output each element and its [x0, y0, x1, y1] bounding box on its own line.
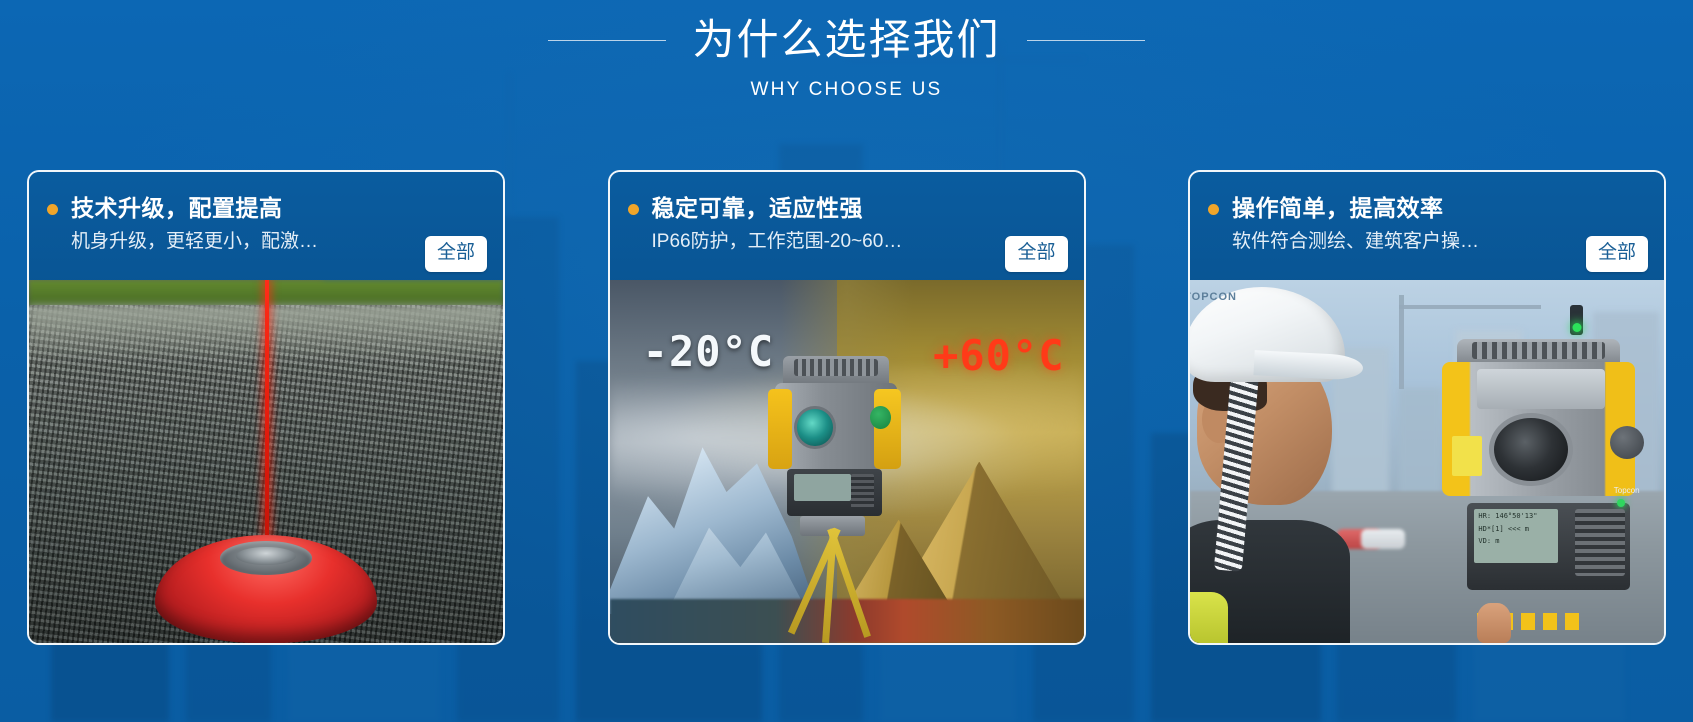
total-station: Topcon HR: 146°50'13" HD*[1] <<< m VD: m: [1413, 309, 1659, 643]
card-title: 技术升级，配置提高: [71, 194, 485, 224]
station-screen: [794, 474, 851, 501]
card-header-texts: 技术升级，配置提高 机身升级，更轻更小，配激…: [71, 194, 485, 255]
station-vent: [794, 359, 878, 376]
station-screen-line-2: HD*[1] <<< m: [1474, 522, 1558, 535]
marker-cap-inner: [236, 547, 296, 565]
title-rule-right: [1027, 40, 1145, 41]
title-row: 为什么选择我们: [548, 14, 1144, 67]
feature-card[interactable]: 操作简单，提高效率 软件符合测绘、建筑客户操… 全部: [1188, 170, 1666, 645]
person-finger: [1477, 603, 1512, 643]
card-header: 操作简单，提高效率 软件符合测绘、建筑客户操… 全部: [1190, 172, 1664, 280]
bullet-dot-icon: [47, 204, 58, 215]
station-lens: [794, 406, 836, 449]
view-all-button[interactable]: 全部: [1586, 236, 1648, 272]
feature-card[interactable]: 技术升级，配置提高 机身升级，更轻更小，配激… 全部: [27, 170, 505, 645]
cold-temperature-label: -20°C: [643, 327, 774, 376]
survey-marker: [155, 535, 377, 643]
station-badge: [870, 406, 891, 429]
station-warning-label: [1452, 436, 1482, 476]
station-focus-knob: [1610, 426, 1645, 459]
view-all-button[interactable]: 全部: [425, 236, 487, 272]
card-header: 技术升级，配置提高 机身升级，更轻更小，配激… 全部: [29, 172, 503, 280]
card-header-texts: 操作简单，提高效率 软件符合测绘、建筑客户操…: [1232, 194, 1646, 255]
station-screen-line-1: HR: 146°50'13": [1474, 509, 1558, 522]
card-header-row: 操作简单，提高效率 软件符合测绘、建筑客户操…: [1208, 194, 1646, 255]
card-image: TOPCON Topcon HR: 146°50'13" HD*[1] <<< …: [1190, 280, 1664, 643]
feature-card[interactable]: 稳定可靠，适应性强 IP66防护，工作范围-20~60… 全部: [608, 170, 1086, 645]
view-all-button[interactable]: 全部: [1005, 236, 1067, 272]
card-image: [29, 280, 503, 643]
station-screen-line-3: VD: m: [1474, 534, 1558, 547]
hot-temperature-label: +60°C: [933, 331, 1064, 380]
station-yellow-right: [874, 389, 901, 469]
card-image: -20°C +60°C: [610, 280, 1084, 643]
card-description: 机身升级，更轻更小，配激…: [71, 229, 401, 255]
station-screen: HR: 146°50'13" HD*[1] <<< m VD: m: [1474, 509, 1558, 562]
card-description: 软件符合测绘、建筑客户操…: [1232, 229, 1562, 255]
card-header-row: 技术升级，配置提高 机身升级，更轻更小，配激…: [47, 194, 485, 255]
station-brand-label: Topcon: [1614, 486, 1640, 495]
card-header-texts: 稳定可靠，适应性强 IP66防护，工作范围-20~60…: [652, 194, 1066, 255]
bullet-dot-icon: [1208, 204, 1219, 215]
safety-vest: [1190, 592, 1228, 643]
surveyor-person: TOPCON: [1190, 280, 1389, 643]
bullet-dot-icon: [628, 204, 639, 215]
station-lens: [1489, 413, 1573, 486]
section-header: 为什么选择我们 WHY CHOOSE US: [0, 0, 1693, 150]
station-keypad: [851, 474, 874, 507]
station-vent: [1472, 342, 1605, 359]
station-yellow-left: [768, 389, 793, 469]
helmet-brand-label: TOPCON: [1190, 291, 1237, 303]
card-description: IP66防护，工作范围-20~60…: [652, 229, 982, 255]
laser-beam: [265, 280, 269, 549]
card-title: 稳定可靠，适应性强: [652, 194, 1066, 224]
title-rule-left: [548, 40, 666, 41]
card-header-row: 稳定可靠，适应性强 IP66防护，工作范围-20~60…: [628, 194, 1066, 255]
page-title: 为什么选择我们: [692, 14, 1000, 67]
page-subtitle: WHY CHOOSE US: [751, 79, 943, 101]
station-upper-face: [1477, 369, 1605, 409]
card-header: 稳定可靠，适应性强 IP66防护，工作范围-20~60… 全部: [610, 172, 1084, 280]
station-keypad: [1575, 509, 1624, 576]
card-title: 操作简单，提高效率: [1232, 194, 1646, 224]
feature-card-list: 技术升级，配置提高 机身升级，更轻更小，配激… 全部: [27, 170, 1666, 645]
